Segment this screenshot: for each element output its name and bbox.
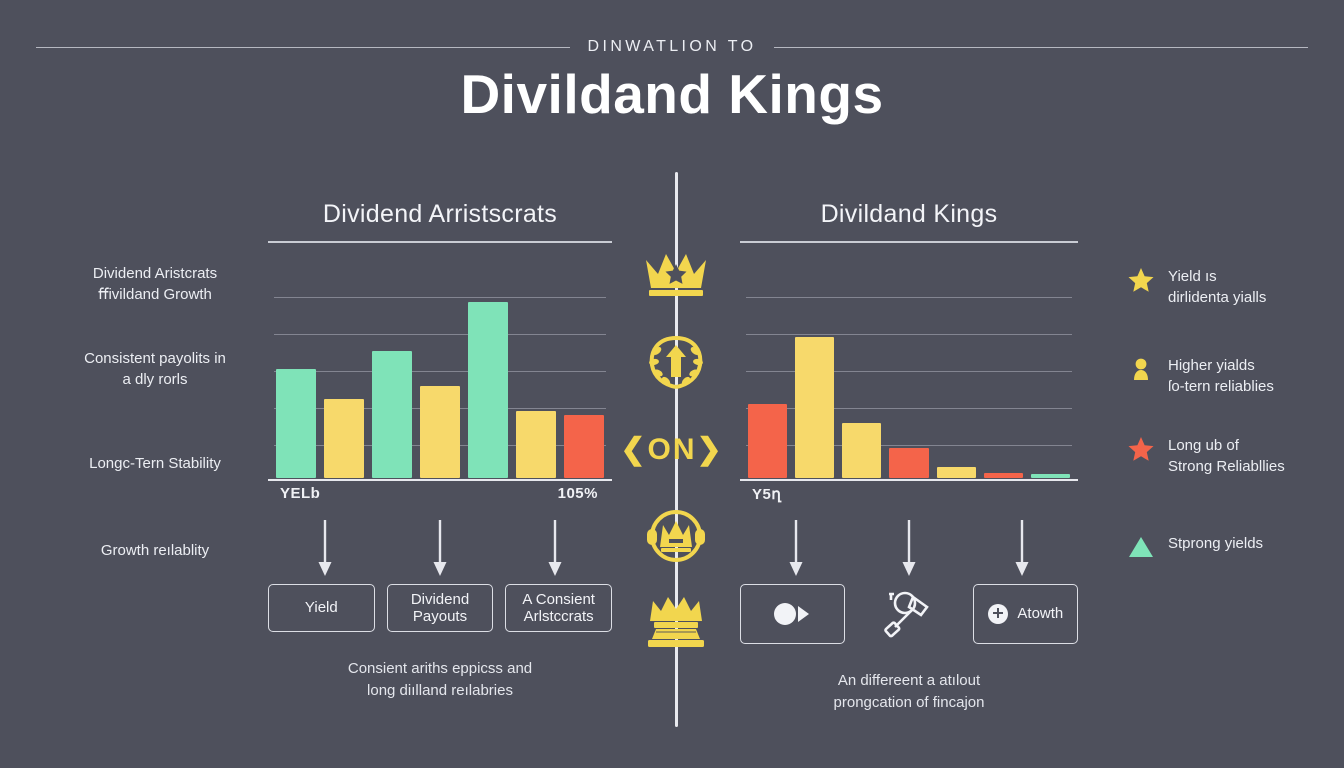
chip-yield[interactable]: Yield [268, 584, 375, 632]
caption-left: Consient ariths eppicss andlong diılland… [268, 658, 612, 702]
microphone-tool-icon [883, 589, 935, 639]
chart-bar [420, 386, 460, 478]
chart-bar [372, 351, 412, 478]
star-icon [1128, 267, 1154, 293]
legend-item-yield: Yield ısdirlidenta yialls [1128, 266, 1342, 308]
side-label-dividend-growth: Dividend Aristcratsﬀivildand Growth [48, 263, 262, 305]
chip-row-right: Atowth [740, 584, 1078, 644]
chart-bar [564, 415, 604, 478]
chart-bar [324, 399, 364, 478]
chart-bar [937, 467, 976, 478]
panel-title-right: Divildand Kings [740, 200, 1078, 241]
chart-bar [984, 473, 1023, 478]
page-title: Divildand Kings [0, 62, 1344, 126]
legend-item-strong-yields: Stprong yields [1128, 533, 1342, 560]
plus-circle-icon [987, 603, 1009, 625]
rule-right [774, 47, 1308, 48]
chess-king-icon [640, 592, 712, 650]
legend-text-yield: Yield ısdirlidenta yialls [1168, 266, 1266, 308]
chart-bar [748, 404, 787, 478]
rule-left [36, 47, 570, 48]
panel-rule-left [268, 241, 612, 243]
infographic-canvas: DINWATLION TO Divildand Kings [0, 0, 1344, 768]
legend-item-higher-yields: Higher yialdsſo-tern reliablies [1128, 355, 1342, 397]
laurel-wreath-icon [641, 332, 711, 392]
panel-title-left: Dividend Arristscrats [268, 200, 612, 241]
chart-bar [795, 337, 834, 478]
down-arrow-icon [901, 520, 917, 578]
pawn-icon [1128, 356, 1154, 382]
chip-growth-label: Atowth [1017, 605, 1063, 622]
arrow-row-left [268, 518, 612, 580]
eyebrow-text: DINWATLION TO [588, 38, 757, 56]
legend-text-higher-yields: Higher yialdsſo-tern reliablies [1168, 355, 1274, 397]
chart-left: YELb 105% [268, 293, 612, 478]
axis-left [268, 479, 612, 481]
side-label-long-term-stability: Longc-Tern Stability [48, 453, 262, 474]
caption-right: An differeent a atıloutprongcation of fi… [740, 670, 1078, 714]
chip-growth[interactable]: Atowth [973, 584, 1078, 644]
chart-bar [889, 448, 928, 478]
panel-rule-right [740, 241, 1078, 243]
video-camera-icon [771, 602, 815, 626]
chip-row-left: Yield DividendPayouts A ConsientArlstccr… [268, 584, 612, 632]
chip-consient-aristocrats[interactable]: A ConsientArlstccrats [505, 584, 612, 632]
down-arrow-icon [788, 520, 804, 578]
bars-right [748, 293, 1070, 478]
legend-text-strong-yields: Stprong yields [1168, 533, 1263, 554]
side-label-growth-reliability: Growth reılablity [48, 540, 262, 561]
chart-bar [468, 302, 508, 478]
chip-dividend-payouts[interactable]: DividendPayouts [387, 584, 494, 632]
axis-tick-start-left: YELb [280, 485, 320, 502]
panel-dividend-kings: Divildand Kings Y5ղ [740, 200, 1078, 714]
down-arrow-icon [1014, 520, 1030, 578]
down-arrow-icon [317, 520, 333, 578]
chip-microphone-tool[interactable] [857, 584, 960, 644]
panel-dividend-aristocrats: Dividend Arristscrats YELb 105% Yield Di… [268, 200, 612, 702]
legend-item-strong-reliabilities: Long ub ofStrong Reliabllies [1128, 435, 1342, 477]
star-red-icon [1128, 436, 1154, 462]
axis-tick-start-right: Y5ղ [752, 485, 781, 503]
chart-right: Y5ղ [740, 293, 1078, 478]
bars-left [276, 293, 604, 478]
axis-tick-end-left: 105% [558, 485, 598, 502]
crown-circle-icon [643, 508, 709, 564]
side-label-consistent-payouts: Consistent payolits ina dly rorls [48, 348, 262, 390]
down-arrow-icon [432, 520, 448, 578]
chip-video[interactable] [740, 584, 845, 644]
triangle-icon [1128, 534, 1154, 560]
arrow-row-right [740, 518, 1078, 580]
on-label: ❮ON❯ [620, 432, 723, 467]
chart-bar [1031, 474, 1070, 478]
legend-text-strong-reliabilities: Long ub ofStrong Reliabllies [1168, 435, 1285, 477]
down-arrow-icon [547, 520, 563, 578]
chart-bar [516, 411, 556, 478]
crown-star-icon [641, 248, 711, 300]
chart-bar [276, 369, 316, 478]
chart-bar [842, 423, 881, 478]
axis-right [740, 479, 1078, 481]
eyebrow-row: DINWATLION TO [36, 38, 1308, 56]
